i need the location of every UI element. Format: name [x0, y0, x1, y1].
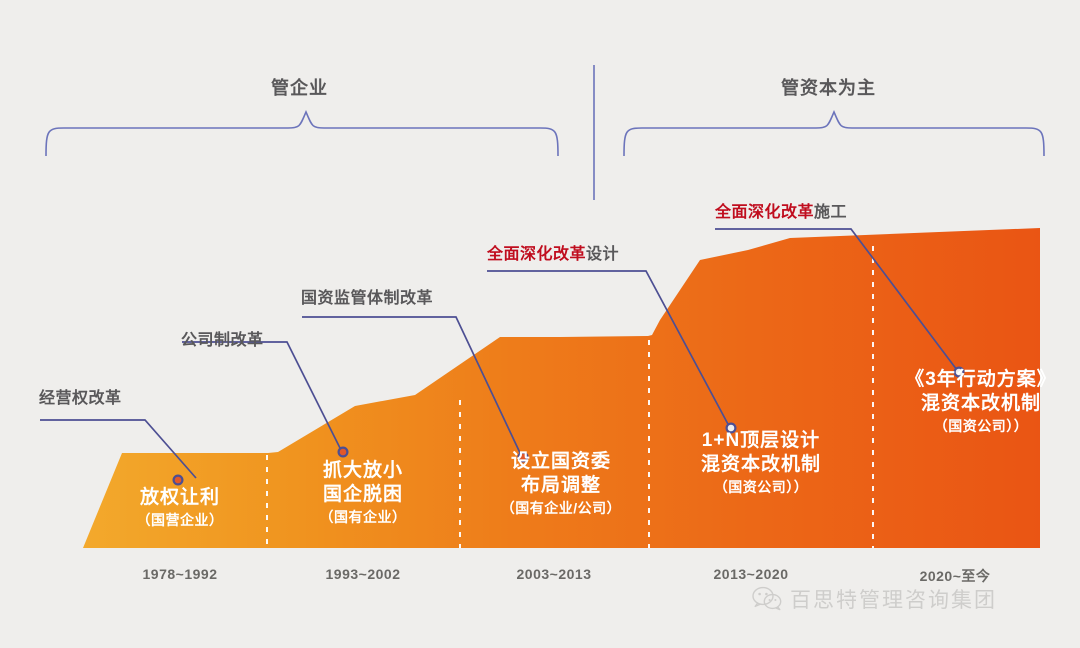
watermark-text: 百思特管理咨询集团 — [790, 584, 997, 614]
segment-label-2: 抓大放小 国企脱困 （国有企业） — [278, 459, 448, 528]
callout-5-tail: 施工 — [814, 204, 847, 221]
wechat-icon — [752, 586, 782, 612]
period-label-2: 1993~2002 — [293, 566, 433, 582]
brace-caption-manage-enterprise: 管企业 — [271, 74, 328, 100]
period-label-1: 1978~1992 — [110, 566, 250, 582]
callout-3-plain: 国资监管体制改革 — [301, 290, 433, 307]
period-label-3: 2003~2013 — [484, 566, 624, 582]
callout-label-4: 全面深化改革设计 — [487, 240, 619, 264]
callout-4-highlight: 全面深化改革 — [487, 246, 586, 263]
segment-4-title-line-1: 1+N顶层设计 — [666, 429, 856, 453]
segment-2-title-line-1: 抓大放小 — [278, 459, 448, 483]
brace-manage-capital — [624, 112, 1044, 156]
callout-1-plain: 经营权改革 — [39, 390, 122, 407]
brace-manage-enterprise — [46, 112, 558, 156]
segment-label-5: 《3年行动方案》 混资本改机制 （国资公司）） — [883, 368, 1079, 437]
watermark: 百思特管理咨询集团 — [752, 584, 997, 614]
segment-label-4: 1+N顶层设计 混资本改机制 （国资公司）） — [666, 429, 856, 498]
segment-1-subtitle: （国营企业） — [95, 510, 265, 531]
callout-label-1: 经营权改革 — [39, 384, 122, 408]
segment-label-1: 放权让利 （国营企业） — [95, 486, 265, 531]
segment-3-title-line-2: 布局调整 — [468, 474, 654, 498]
segment-3-title-line-1: 设立国资委 — [468, 450, 654, 474]
callout-label-5: 全面深化改革施工 — [715, 198, 847, 222]
segment-3-subtitle: （国有企业/公司） — [468, 498, 654, 519]
callout-5-highlight: 全面深化改革 — [715, 204, 814, 221]
period-label-4: 2013~2020 — [681, 566, 821, 582]
brace-caption-manage-capital: 管资本为主 — [781, 74, 876, 100]
segment-label-3: 设立国资委 布局调整 （国有企业/公司） — [468, 450, 654, 519]
infographic-canvas: 管企业 管资本为主 经营权改革 公司制改革 国资监管体制改革 全面深化改革设计 … — [0, 0, 1080, 648]
callout-label-2: 公司制改革 — [181, 326, 264, 350]
segment-4-title-line-2: 混资本改机制 — [666, 453, 856, 477]
segment-4-subtitle: （国资公司）） — [666, 477, 856, 498]
callout-4-tail: 设计 — [586, 246, 619, 263]
callout-label-3: 国资监管体制改革 — [301, 284, 433, 308]
segment-5-title-line-1: 《3年行动方案》 — [883, 368, 1079, 392]
segment-2-subtitle: （国有企业） — [278, 507, 448, 528]
segment-2-title-line-2: 国企脱困 — [278, 483, 448, 507]
chart-svg — [0, 0, 1080, 648]
segment-5-subtitle: （国资公司）） — [883, 416, 1079, 437]
callout-2-plain: 公司制改革 — [181, 332, 264, 349]
segment-1-title-line-1: 放权让利 — [95, 486, 265, 510]
segment-5-title-line-2: 混资本改机制 — [883, 392, 1079, 416]
period-label-5: 2020~至今 — [885, 566, 1025, 586]
